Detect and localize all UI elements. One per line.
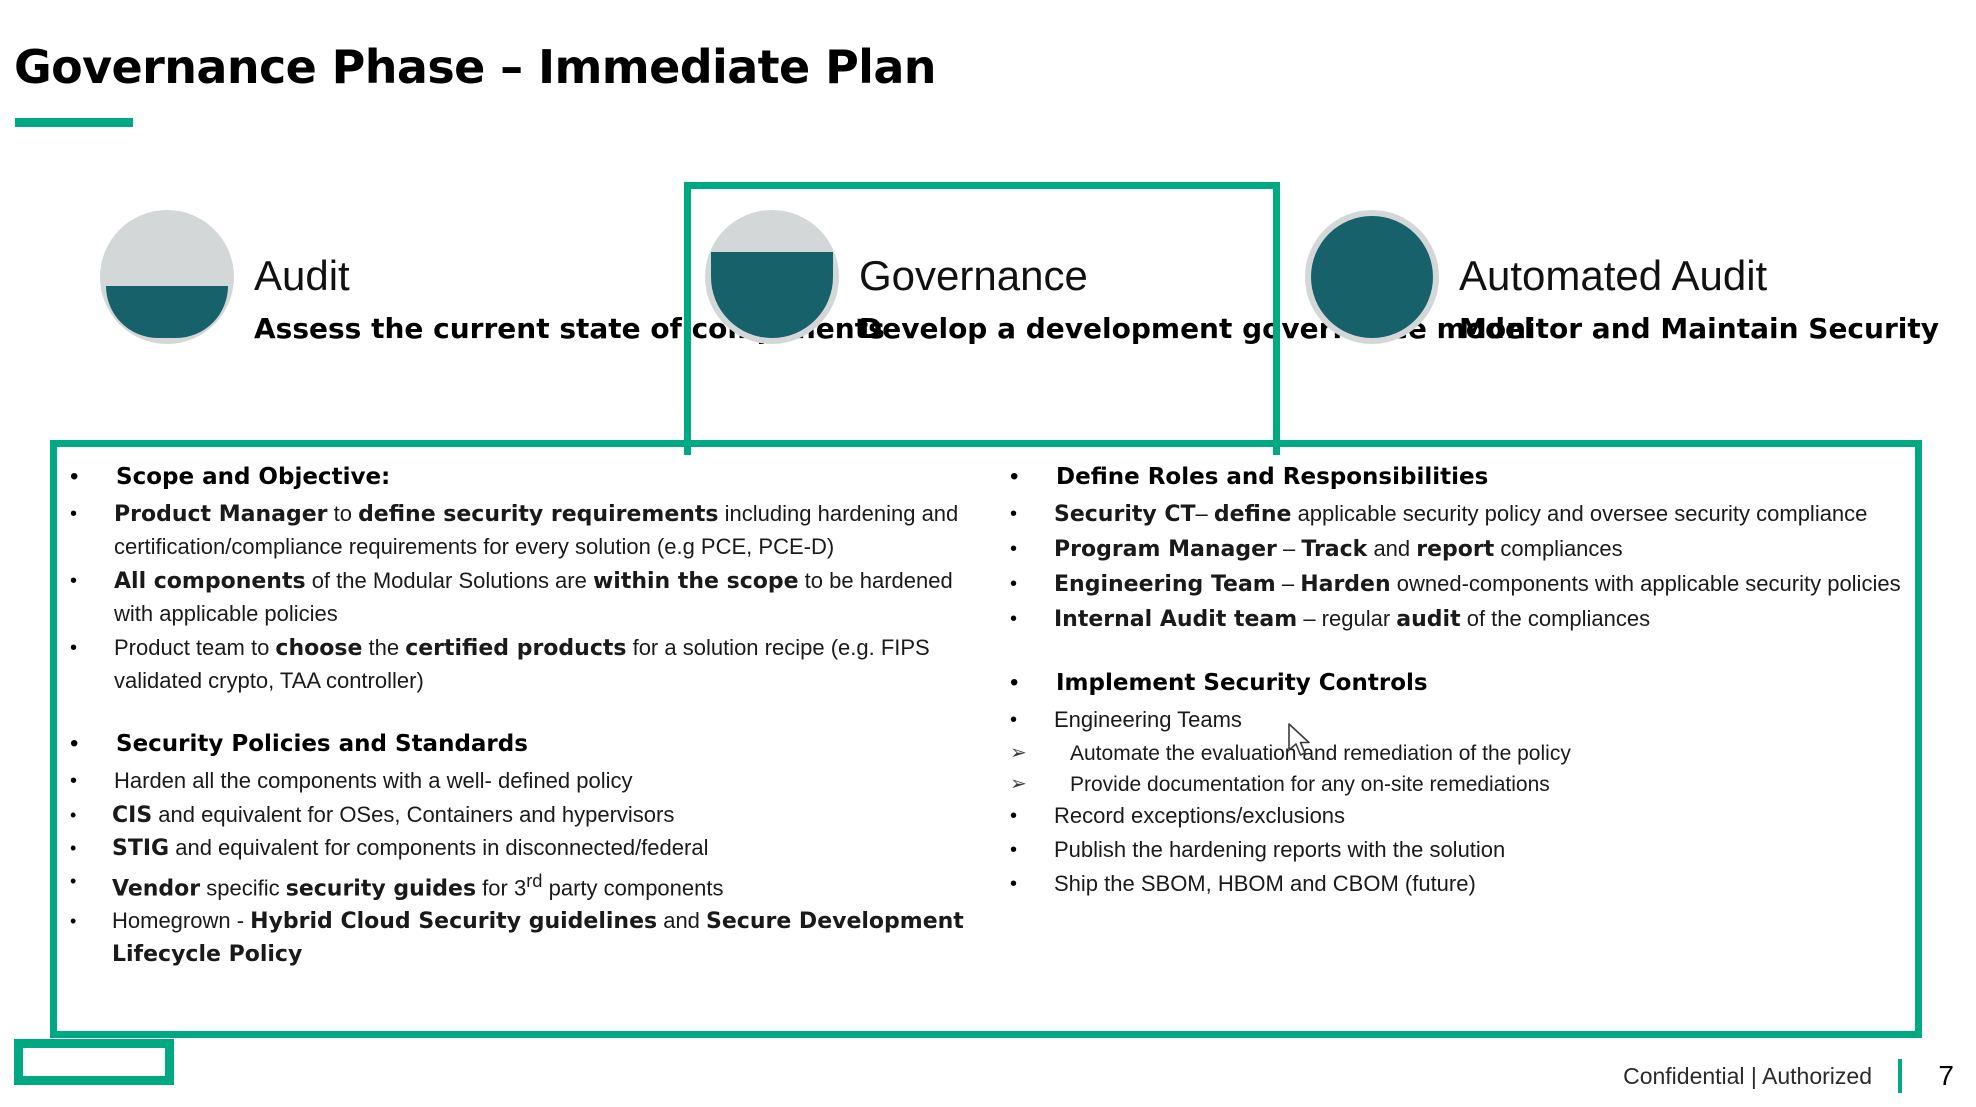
list-item: •Ship the SBOM, HBOM and CBOM (future) [1010,868,1910,900]
section-sublist: •Engineering Teams➢Automate the evaluati… [1010,704,1910,900]
list-item-text: Define Roles and Responsibilities [1056,460,1910,494]
section-list: •Define Roles and Responsibilities•Secur… [1010,460,1910,636]
section-spacer [1010,638,1910,666]
bullet-dot-icon: • [1010,704,1054,736]
bullet-dot-icon: • [1010,460,1056,494]
list-item-text: Ship the SBOM, HBOM and CBOM (future) [1054,868,1910,900]
list-item: •Program Manager – Track and report comp… [1010,533,1910,566]
circle-fill-100-icon [1305,210,1439,344]
list-item-text: Security CT– define applicable security … [1054,498,1910,531]
list-item: •CIS and equivalent for OSes, Containers… [70,799,980,832]
bullet-dot-icon: • [1010,834,1054,866]
list-item-text: Program Manager – Track and report compl… [1054,533,1910,566]
body-content: •Scope and Objective:•Product Manager to… [60,460,1920,1020]
phase-name-automated-audit: Automated Audit [1459,254,1939,298]
list-item-text: Publish the hardening reports with the s… [1054,834,1910,866]
bullet-arrow-icon: ➢ [1010,769,1070,800]
section-list: •Implement Security Controls•Engineering… [1010,666,1910,900]
section-sublist: •Harden all the components with a well- … [70,765,980,971]
list-item-text: Internal Audit team – regular audit of t… [1054,603,1910,636]
bullet-dot-icon: • [70,799,112,831]
section-heading: •Define Roles and Responsibilities [1010,460,1910,494]
footer-divider [1898,1059,1902,1093]
section-heading: •Implement Security Controls [1010,666,1910,700]
footer: Confidential | Authorized 7 [1623,1059,1954,1093]
bullet-dot-icon: • [1010,800,1054,832]
list-item: •Publish the hardening reports with the … [1010,834,1910,866]
section-list: •Security Policies and Standards•Harden … [70,727,980,971]
list-item: •Product team to choose the certified pr… [70,632,980,697]
list-item-text: Provide documentation for any on-site re… [1070,769,1910,800]
list-item-text: Automate the evaluation and remediation … [1070,738,1910,769]
section-heading: •Security Policies and Standards [70,727,980,761]
list-item: •All components of the Modular Solutions… [70,565,980,630]
bullet-dot-icon: • [70,865,112,897]
list-item: ➢Automate the evaluation and remediation… [1010,738,1910,769]
list-item: •Security CT– define applicable security… [1010,498,1910,531]
slide: Governance Phase – Immediate Plan Audit … [0,0,1976,1107]
phase-description-automated-audit: Monitor and Maintain Security [1459,312,1939,346]
list-item: •Homegrown - Hybrid Cloud Security guide… [70,905,980,971]
list-item: •Engineering Team – Harden owned-compone… [1010,568,1910,601]
bullet-dot-icon: • [70,565,114,597]
list-item-text: Product Manager to define security requi… [114,498,980,563]
title-accent-rule [15,118,133,127]
list-item-text: Record exceptions/exclusions [1054,800,1910,832]
section-heading: •Scope and Objective: [70,460,980,494]
bullet-dot-icon: • [1010,568,1054,600]
bullet-dot-icon: • [70,632,114,664]
section-spacer [70,699,980,727]
bullet-dot-icon: • [1010,868,1054,900]
list-item: •Product Manager to define security requ… [70,498,980,563]
bullet-dot-icon: • [70,727,116,761]
circle-fill-40-icon [100,210,234,344]
list-item: ➢Provide documentation for any on-site r… [1010,769,1910,800]
list-item: •STIG and equivalent for components in d… [70,832,980,865]
page-number: 7 [1928,1060,1954,1092]
list-item: •Internal Audit team – regular audit of … [1010,603,1910,636]
list-item-text: Implement Security Controls [1056,666,1910,700]
page-title: Governance Phase – Immediate Plan [14,40,936,94]
list-item-text: Product team to choose the certified pro… [114,632,980,697]
list-item-text: Vendor specific security guides for 3rd … [112,865,980,905]
list-item: •Harden all the components with a well- … [70,765,980,797]
list-item-text: STIG and equivalent for components in di… [112,832,980,865]
list-item-text: Security Policies and Standards [116,727,980,761]
list-item: •Vendor specific security guides for 3rd… [70,865,980,905]
governance-highlight-frame [684,182,1280,455]
list-item: •Record exceptions/exclusions [1010,800,1910,832]
bullet-dot-icon: • [70,765,114,797]
list-item-text: Homegrown - Hybrid Cloud Security guidel… [112,905,980,971]
hpe-logo [14,1039,174,1085]
section-sublist: •Security CT– define applicable security… [1010,498,1910,636]
bullet-dot-icon: • [1010,498,1054,530]
bullet-dot-icon: • [70,905,112,937]
mouse-cursor-icon [1287,723,1313,759]
list-item-text: All components of the Modular Solutions … [114,565,980,630]
footer-confidentiality-note: Confidential | Authorized [1623,1063,1872,1090]
section-list: •Scope and Objective:•Product Manager to… [70,460,980,697]
section-sublist: •Product Manager to define security requ… [70,498,980,697]
list-item-text: Engineering Teams [1054,704,1910,736]
list-item-text: CIS and equivalent for OSes, Containers … [112,799,980,832]
list-item-text: Scope and Objective: [116,460,980,494]
bullet-dot-icon: • [1010,533,1054,565]
content-column-right: •Define Roles and Responsibilities•Secur… [990,460,1920,1020]
list-item-text: Engineering Team – Harden owned-componen… [1054,568,1910,601]
list-item: •Engineering Teams [1010,704,1910,736]
content-column-left: •Scope and Objective:•Product Manager to… [60,460,990,1020]
phase-card-automated-audit[interactable]: Automated Audit Monitor and Maintain Sec… [1305,210,1939,346]
bullet-dot-icon: • [1010,603,1054,635]
section-sublist-level3: •CIS and equivalent for OSes, Containers… [70,799,980,971]
bullet-arrow-icon: ➢ [1010,738,1070,769]
bullet-dot-icon: • [70,832,112,864]
bullet-dot-icon: • [70,498,114,530]
bullet-dot-icon: • [70,460,116,494]
section-sublist-arrows: ➢Automate the evaluation and remediation… [1010,738,1910,800]
bullet-dot-icon: • [1010,666,1056,700]
list-item-text: Harden all the components with a well- d… [114,765,980,797]
